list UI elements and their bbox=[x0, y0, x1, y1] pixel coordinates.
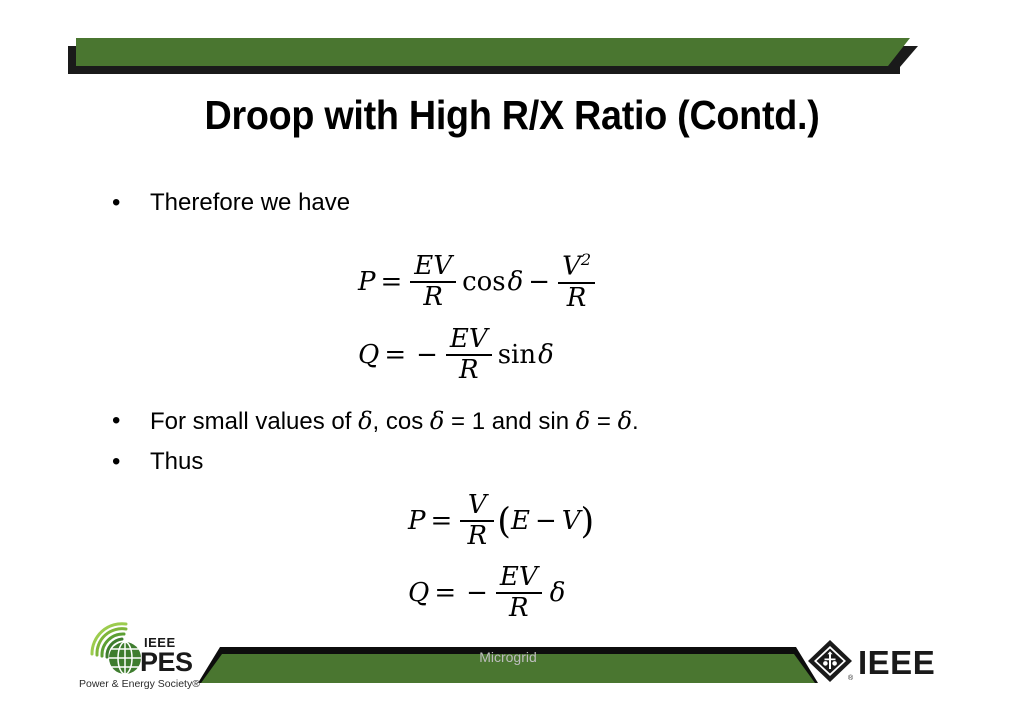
eq-lhs-p: P bbox=[408, 506, 426, 536]
page-title: Droop with High R/X Ratio (Contd.) bbox=[41, 92, 983, 139]
delta-symbol: δ bbox=[576, 407, 590, 435]
equation-p-approx: P = V R ( E − V ) bbox=[408, 492, 594, 550]
fraction-ev-over-r: EV R bbox=[446, 326, 492, 384]
bullet-list: • Therefore we have bbox=[112, 188, 932, 218]
pes-globe-icon bbox=[109, 642, 141, 674]
eq-equals: = bbox=[434, 578, 456, 608]
slide-canvas: Droop with High R/X Ratio (Contd.) • The… bbox=[0, 0, 1024, 724]
eq-term-v: V bbox=[562, 506, 581, 536]
bullet-marker: • bbox=[112, 188, 150, 218]
delta-symbol: δ bbox=[358, 407, 372, 435]
list-item: • For small values of δ, cos δ = 1 and s… bbox=[112, 406, 932, 437]
eq-term-e: E bbox=[511, 506, 530, 536]
bullet-marker: • bbox=[112, 406, 150, 436]
eq-close-paren: ) bbox=[581, 508, 595, 536]
eq-negative-sign: − bbox=[416, 340, 438, 370]
fraction-numerator: V2 bbox=[558, 252, 595, 282]
pes-tagline-text: Power & Energy Society® bbox=[79, 678, 200, 690]
ieee-logo: ® IEEE bbox=[806, 638, 954, 684]
text-fragment: = 1 and sin bbox=[444, 408, 575, 435]
bullet-text-therefore: Therefore we have bbox=[150, 188, 932, 218]
text-fragment: For small values of bbox=[150, 408, 358, 435]
fraction-numerator: EV bbox=[496, 564, 542, 592]
fraction-denominator: R bbox=[455, 356, 483, 384]
eq-angle-delta: δ bbox=[508, 267, 524, 297]
top-banner-green-bar bbox=[76, 38, 910, 66]
eq-function-cos: cos bbox=[462, 267, 506, 297]
eq-term-v: V bbox=[562, 252, 581, 282]
text-fragment: , cos bbox=[373, 408, 430, 435]
equation-p-full: P = EV R cos δ − V2 R bbox=[358, 252, 598, 312]
ieee-logo-graphic: ® IEEE bbox=[806, 638, 954, 684]
eq-function-sin: sin bbox=[498, 340, 536, 370]
ieee-pes-logo-graphic: IEEE PES Power & Energy Society® bbox=[74, 618, 222, 694]
equation-q-full: Q = − EV R sin δ bbox=[358, 326, 598, 384]
eq-open-paren: ( bbox=[497, 508, 511, 536]
bullet-text-thus: Thus bbox=[150, 447, 932, 477]
equation-q-approx: Q = − EV R δ bbox=[408, 564, 594, 622]
eq-minus: − bbox=[535, 506, 557, 536]
fraction-numerator: EV bbox=[446, 326, 492, 354]
fraction-ev-over-r: EV R bbox=[410, 253, 456, 311]
top-decorative-banner bbox=[68, 38, 918, 74]
ieee-registered-mark: ® bbox=[848, 674, 854, 682]
eq-exponent-2: 2 bbox=[581, 250, 591, 269]
delta-symbol: δ bbox=[430, 407, 444, 435]
footer-banner: Microgrid bbox=[198, 647, 818, 683]
list-item: • Therefore we have bbox=[112, 188, 932, 218]
text-fragment: . bbox=[632, 408, 639, 435]
ieee-diamond-emblem: ® bbox=[808, 640, 854, 682]
footer-label: Microgrid bbox=[198, 649, 818, 665]
equation-group-primary: P = EV R cos δ − V2 R Q = − EV R bbox=[358, 252, 598, 398]
eq-equals: = bbox=[431, 506, 453, 536]
eq-negative-sign: − bbox=[466, 578, 488, 608]
eq-lhs-q: Q bbox=[408, 578, 429, 608]
list-item: • Thus bbox=[112, 447, 932, 477]
equation-group-approximation: P = V R ( E − V ) Q = − EV R δ bbox=[408, 492, 594, 636]
fraction-numerator: V bbox=[464, 492, 491, 520]
fraction-denominator: R bbox=[505, 594, 533, 622]
eq-equals: = bbox=[384, 340, 406, 370]
eq-minus: − bbox=[528, 267, 550, 297]
delta-symbol: δ bbox=[618, 407, 632, 435]
text-fragment: = bbox=[590, 408, 617, 435]
eq-equals: = bbox=[381, 267, 403, 297]
fraction-denominator: R bbox=[464, 522, 492, 550]
fraction-denominator: R bbox=[419, 283, 447, 311]
fraction-denominator: R bbox=[563, 284, 591, 312]
fraction-vsq-over-r: V2 R bbox=[558, 252, 595, 312]
fraction-numerator: EV bbox=[410, 253, 456, 281]
eq-lhs-p: P bbox=[358, 267, 376, 297]
fraction-v-over-r: V R bbox=[460, 492, 494, 550]
ieee-pes-logo: IEEE PES Power & Energy Society® bbox=[74, 618, 222, 694]
pes-pes-text: PES bbox=[140, 647, 193, 677]
bullet-marker: • bbox=[112, 447, 150, 477]
eq-angle-delta: δ bbox=[538, 340, 554, 370]
eq-angle-delta: δ bbox=[550, 578, 566, 608]
fraction-ev-over-r: EV R bbox=[496, 564, 542, 622]
bullet-text-small-values: For small values of δ, cos δ = 1 and sin… bbox=[150, 406, 932, 437]
ieee-wordmark-text: IEEE bbox=[858, 644, 935, 681]
eq-lhs-q: Q bbox=[358, 340, 379, 370]
